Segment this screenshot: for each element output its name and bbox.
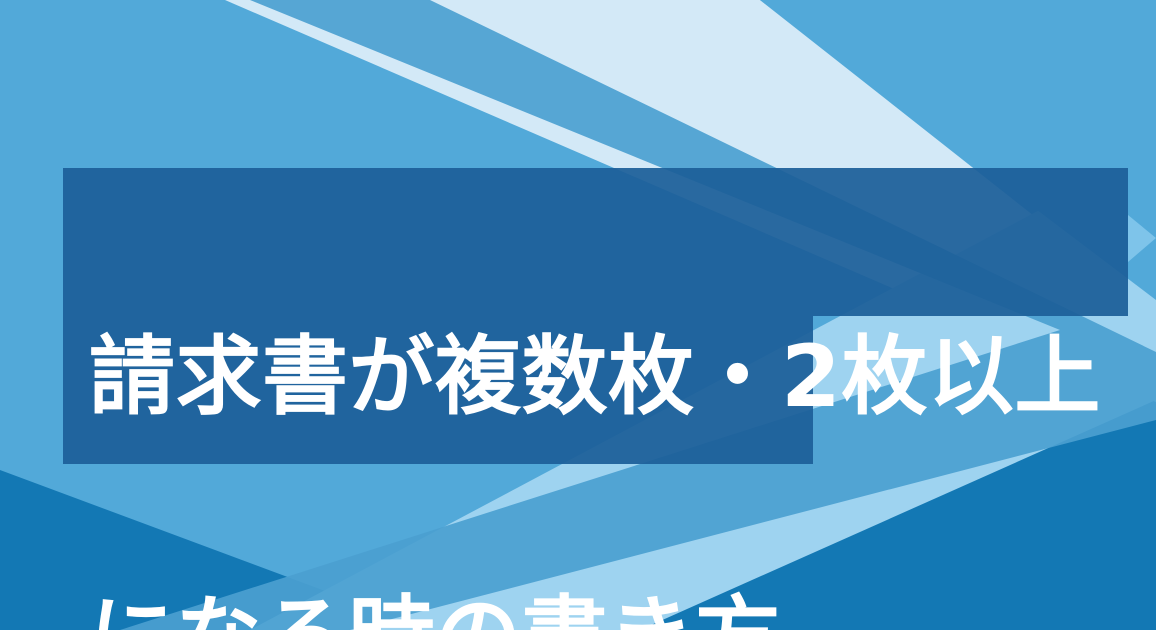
title-line-1: 請求書が複数枚・2枚以上 — [89, 312, 1102, 442]
banner-canvas: 請求書が複数枚・2枚以上 になる時の書き方 — [0, 0, 1156, 630]
title-plate-group: 請求書が複数枚・2枚以上 になる時の書き方 — [63, 168, 1128, 464]
page-title: 請求書が複数枚・2枚以上 になる時の書き方 — [63, 168, 1128, 464]
title-line-2: になる時の書き方 — [89, 572, 1102, 630]
